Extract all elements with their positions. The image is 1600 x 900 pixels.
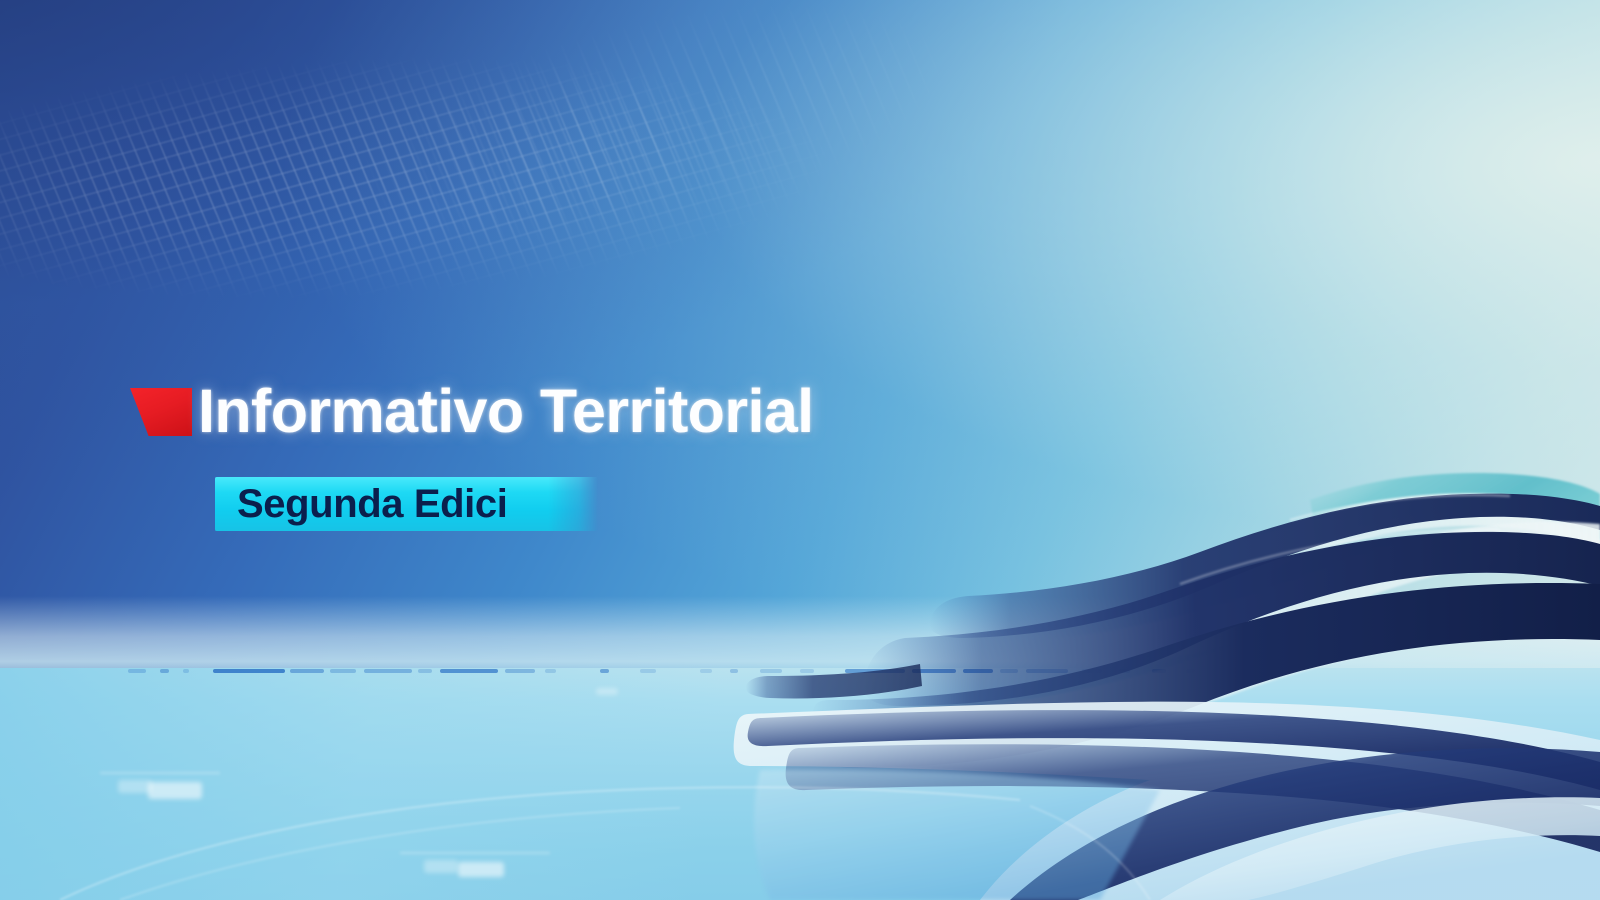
title-lockup: Informativo Territorial Segunda Edici — [130, 376, 1130, 446]
ground-artifact-streak-2 — [400, 852, 550, 854]
ground-artifact-streak-1 — [100, 772, 220, 774]
broadcast-title-card: Informativo Territorial Segunda Edici — [0, 0, 1600, 900]
edition-banner: Segunda Edici — [215, 477, 598, 531]
ground-artifact-label-3 — [458, 862, 504, 877]
ground-artifact-label-4 — [424, 860, 458, 873]
red-trapezoid-mark-icon — [130, 388, 192, 436]
ground-artifact-dot — [596, 688, 618, 695]
page-title: Informativo Territorial — [198, 376, 814, 446]
layered-ribbon-waves-graphic — [0, 0, 1600, 900]
edition-label: Segunda Edici — [237, 477, 507, 531]
ground-artifact-label-1 — [148, 782, 202, 799]
ground-artifact-label-2 — [118, 780, 152, 793]
